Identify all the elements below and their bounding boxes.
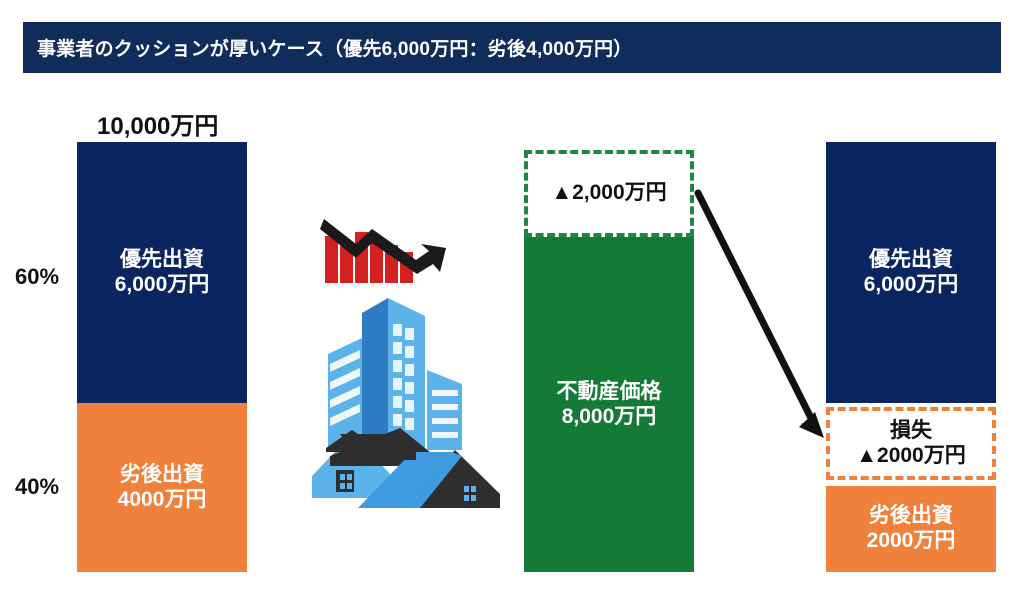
subordinated-percent-label: 40% <box>15 474 59 500</box>
bar-senior-investment-amount: 6,000万円 <box>115 273 210 298</box>
bar-real-estate-price-name: 不動産価格 <box>557 380 662 405</box>
real-estate-decline-illustration <box>300 198 515 543</box>
bar-real-estate-price: 不動産価格 8,000万円 <box>524 237 694 572</box>
bar-subordinated-investment-after-name: 劣後出資 <box>869 504 953 529</box>
loss-callout-box: 損失 ▲2000万円 <box>826 407 996 480</box>
bar-subordinated-investment-name: 劣後出資 <box>120 463 204 488</box>
total-amount-label: 10,000万円 <box>97 106 218 141</box>
loss-callout-name: 損失 <box>890 419 932 443</box>
houses-icon <box>312 428 500 508</box>
bar-subordinated-investment-after: 劣後出資 2000万円 <box>826 486 996 572</box>
bar-senior-investment-after-amount: 6,000万円 <box>864 273 959 298</box>
title-banner: 事業者のクッションが厚いケース（優先6,000万円：劣後4,000万円） <box>23 22 1001 73</box>
bar-senior-investment-name: 優先出資 <box>120 248 204 273</box>
bar-real-estate-price-amount: 8,000万円 <box>562 405 657 430</box>
senior-percent-label: 60% <box>15 264 59 290</box>
loss-callout-amount: ▲2000万円 <box>856 444 966 468</box>
bar-senior-investment-after: 優先出資 6,000万円 <box>826 142 996 403</box>
bar-subordinated-investment-after-amount: 2000万円 <box>867 529 956 554</box>
property-value-drop-callout: ▲2,000万円 <box>524 150 694 237</box>
bar-subordinated-investment-amount: 4000万円 <box>118 488 207 513</box>
bar-senior-investment-after-name: 優先出資 <box>869 248 953 273</box>
page-title: 事業者のクッションが厚いケース（優先6,000万円：劣後4,000万円） <box>23 34 632 61</box>
bar-senior-investment: 優先出資 6,000万円 <box>77 142 247 403</box>
property-value-drop-amount: ▲2,000万円 <box>551 181 666 205</box>
bar-subordinated-investment: 劣後出資 4000万円 <box>77 403 247 572</box>
buildings-icon <box>328 298 462 450</box>
slide-canvas: 事業者のクッションが厚いケース（優先6,000万円：劣後4,000万円） 10,… <box>0 0 1024 596</box>
